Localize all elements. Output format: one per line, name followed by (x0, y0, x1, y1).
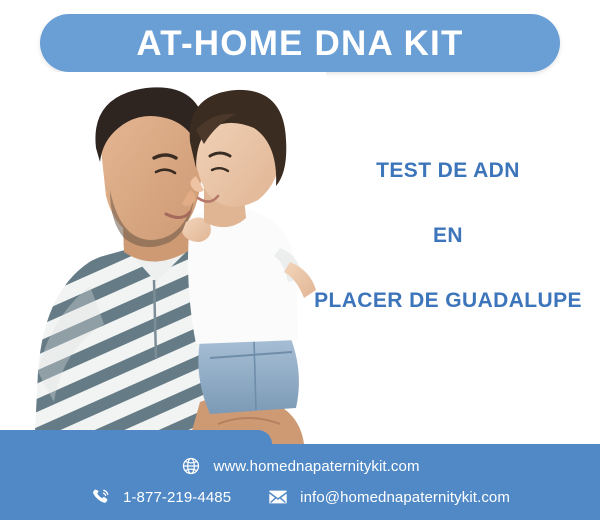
footer-website-row: www.homednapaternitykit.com (0, 455, 600, 477)
family-photo (4, 72, 326, 452)
headline-line-1: TEST DE ADN (300, 160, 596, 181)
header-banner: AT-HOME DNA KIT (40, 14, 560, 72)
email-text[interactable]: info@homednapaternitykit.com (300, 490, 510, 505)
phone-contact[interactable]: 1-877-219-4485 (90, 486, 231, 508)
envelope-icon (267, 486, 289, 508)
page-title: AT-HOME DNA KIT (136, 26, 463, 61)
headline-line-2: EN (300, 225, 596, 246)
website-text[interactable]: www.homednapaternitykit.com (213, 459, 419, 474)
phone-icon (90, 486, 112, 508)
headline-line-3: PLACER DE GUADALUPE (300, 290, 596, 311)
poster: AT-HOME DNA KIT (0, 0, 600, 520)
globe-icon (180, 455, 202, 477)
headline-block: TEST DE ADN EN PLACER DE GUADALUPE (300, 160, 596, 311)
family-photo-illustration (4, 72, 326, 452)
phone-text[interactable]: 1-877-219-4485 (123, 490, 231, 505)
footer-contact-row: 1-877-219-4485 info@homednapaternitykit.… (0, 486, 600, 508)
email-contact[interactable]: info@homednapaternitykit.com (267, 486, 510, 508)
